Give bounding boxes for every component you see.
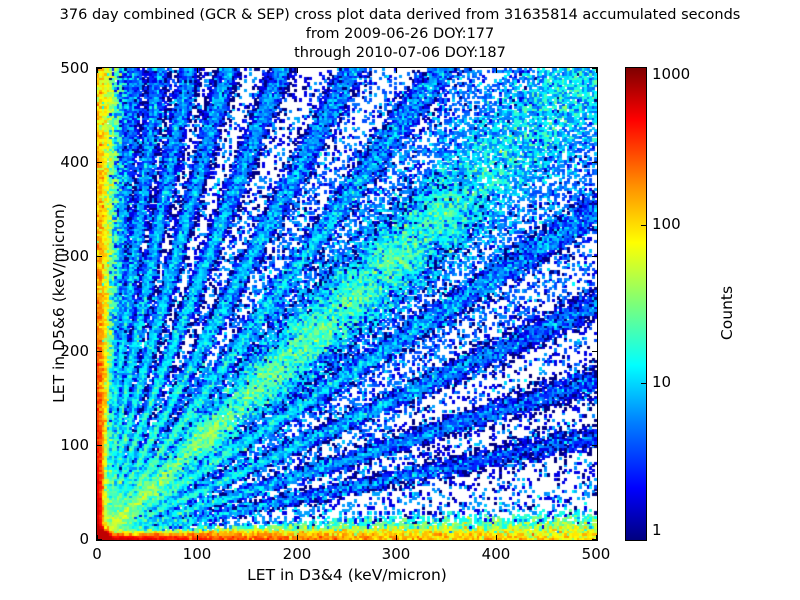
- colorbar-tick-label: 1: [652, 521, 662, 539]
- y-tick-mark: [592, 256, 597, 257]
- y-tick-mark: [97, 539, 102, 540]
- x-tick-label: 200: [283, 545, 312, 563]
- title-line-2: from 2009-06-26 DOY:177: [0, 25, 800, 44]
- y-tick-mark: [592, 539, 597, 540]
- plot-area[interactable]: [96, 67, 598, 541]
- x-tick-mark: [297, 535, 298, 540]
- y-tick-mark: [592, 68, 597, 69]
- x-tick-mark: [496, 68, 497, 73]
- x-tick-mark: [396, 68, 397, 73]
- y-tick-label: 0: [79, 530, 89, 548]
- colorbar-gradient: [626, 68, 646, 540]
- x-tick-label: 400: [482, 545, 511, 563]
- plot-title: 376 day combined (GCR & SEP) cross plot …: [0, 6, 800, 63]
- colorbar-tick-label: 100: [652, 215, 681, 233]
- x-tick-mark: [396, 535, 397, 540]
- colorbar[interactable]: [625, 67, 647, 541]
- colorbar-tick-label: 1000: [652, 65, 690, 83]
- y-tick-mark: [97, 445, 102, 446]
- colorbar-tick-mark: [641, 225, 646, 226]
- x-tick-mark: [297, 68, 298, 73]
- x-tick-label: 100: [183, 545, 212, 563]
- x-tick-label: 500: [582, 545, 611, 563]
- y-tick-mark: [97, 162, 102, 163]
- title-line-1: 376 day combined (GCR & SEP) cross plot …: [0, 6, 800, 25]
- histogram-2d-canvas: [97, 68, 597, 540]
- x-tick-label: 300: [382, 545, 411, 563]
- x-tick-mark: [496, 535, 497, 540]
- y-tick-mark: [592, 162, 597, 163]
- colorbar-tick-mark: [641, 383, 646, 384]
- x-axis-label: LET in D3&4 (keV/micron): [96, 566, 598, 584]
- y-tick-mark: [97, 256, 102, 257]
- colorbar-tick-label: 10: [652, 373, 671, 391]
- title-line-3: through 2010-07-06 DOY:187: [0, 44, 800, 63]
- x-tick-label: 0: [92, 545, 102, 563]
- y-tick-mark: [592, 351, 597, 352]
- y-tick-mark: [592, 445, 597, 446]
- x-tick-mark: [197, 68, 198, 73]
- y-tick-mark: [97, 68, 102, 69]
- y-tick-mark: [97, 351, 102, 352]
- colorbar-label: Counts: [718, 153, 736, 473]
- x-tick-mark: [197, 535, 198, 540]
- y-axis-label: LET in D5&6 (keV/micron): [50, 66, 68, 540]
